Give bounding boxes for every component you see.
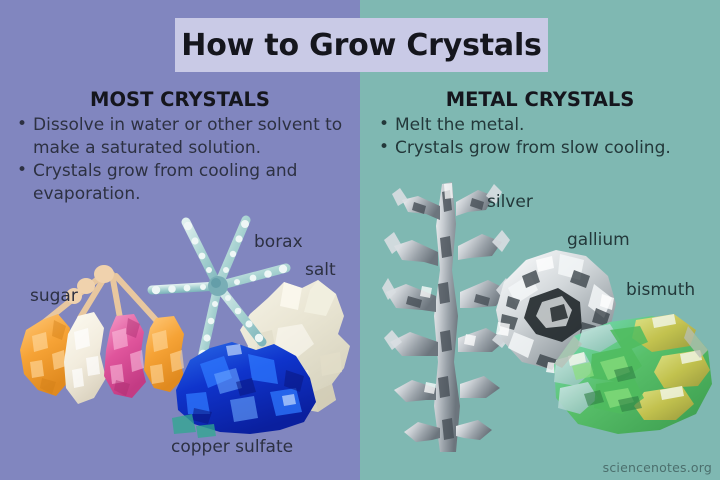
metal-crystals-bullet-list: Melt the metal. Crystals grow from slow … bbox=[378, 114, 716, 160]
bullet-item: Melt the metal. bbox=[378, 114, 716, 137]
copper-sulfate-label: copper sulfate bbox=[171, 437, 293, 457]
borax-label: borax bbox=[254, 232, 303, 252]
bullet-item: Dissolve in water or other solvent to ma… bbox=[16, 114, 352, 160]
metal-crystals-heading: METAL CRYSTALS bbox=[360, 88, 720, 111]
silver-label: silver bbox=[487, 192, 533, 212]
title-banner: How to Grow Crystals bbox=[175, 18, 548, 72]
bismuth-crystal-image bbox=[548, 300, 718, 450]
most-crystals-bullet-list: Dissolve in water or other solvent to ma… bbox=[16, 114, 352, 206]
sugar-label: sugar bbox=[30, 286, 78, 306]
copper-sulfate-crystal-image bbox=[170, 330, 330, 440]
most-crystals-heading: MOST CRYSTALS bbox=[0, 88, 360, 111]
gallium-label: gallium bbox=[567, 230, 630, 250]
page-title: How to Grow Crystals bbox=[181, 28, 541, 63]
salt-label: salt bbox=[305, 260, 336, 280]
bullet-item: Crystals grow from slow cooling. bbox=[378, 137, 716, 160]
site-watermark: sciencenotes.org bbox=[603, 460, 712, 475]
infographic-poster: How to Grow Crystals MOST CRYSTALS Disso… bbox=[0, 0, 720, 480]
bismuth-label: bismuth bbox=[626, 280, 695, 300]
bullet-item: Crystals grow from cooling and evaporati… bbox=[16, 160, 352, 206]
